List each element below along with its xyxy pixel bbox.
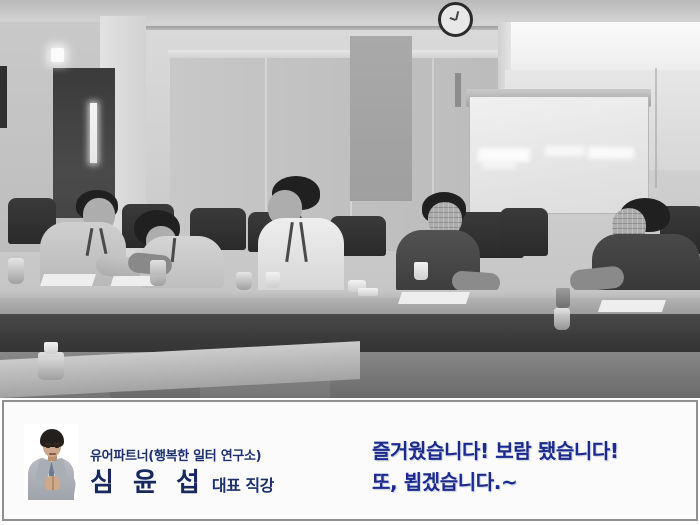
speaker-name-line: 심 윤 섭 대표 직강 <box>90 468 274 498</box>
speaker-text: 유어파트너(행복한 일터 연구소) 심 윤 섭 대표 직강 <box>90 449 274 500</box>
speaker-name: 심 윤 섭 <box>90 468 205 498</box>
whiteboard-glare <box>545 146 585 156</box>
cup-lid <box>44 342 58 354</box>
office-chair <box>500 208 548 256</box>
portrait-eye-right <box>55 446 59 448</box>
speaker-block: 유어파트너(행복한 일터 연구소) 심 윤 섭 대표 직강 <box>24 424 274 500</box>
portrait-eye-left <box>46 446 50 448</box>
message-line-1: 즐거웠습니다! 보람 됐습니다! <box>372 436 619 467</box>
slide-root: 유어파트너(행복한 일터 연구소) 심 윤 섭 대표 직강 즐거웠습니다! 보람… <box>0 0 700 525</box>
drink-cup <box>554 308 570 330</box>
right-wall-seam <box>655 68 657 188</box>
document <box>40 274 96 286</box>
portrait-eyebrow-left <box>45 443 51 445</box>
speaker-role: 대표 직강 <box>212 476 274 496</box>
drink-cup <box>556 288 570 308</box>
drink-cup-foreground <box>38 352 64 380</box>
left-door-frame <box>0 66 7 128</box>
document <box>598 300 666 312</box>
paneled-wall-top-trim <box>168 50 502 58</box>
drink-cup <box>236 272 252 290</box>
paper-cup <box>414 262 428 280</box>
drink-cup <box>150 260 166 286</box>
portrait-hair <box>40 429 64 447</box>
portrait-mouth <box>49 453 56 455</box>
wall-clock-icon <box>438 2 473 37</box>
ceiling-light-recess <box>505 22 700 77</box>
whiteboard-bracket <box>455 73 461 107</box>
speaker-organization: 유어파트너(행복한 일터 연구소) <box>90 449 274 465</box>
message-line-2: 또, 뵙겠습니다.~ <box>372 467 619 498</box>
drink-cup <box>8 258 24 284</box>
portrait-hand-split <box>52 476 54 490</box>
caption-panel: 유어파트너(행복한 일터 연구소) 심 윤 섭 대표 직강 즐거웠습니다! 보람… <box>2 400 698 521</box>
document <box>398 292 470 304</box>
conference-room-photo <box>0 0 700 398</box>
speaker-portrait <box>24 424 78 500</box>
portrait-eyebrow-right <box>54 443 60 445</box>
whiteboard-glare <box>482 162 516 169</box>
right-doorway <box>350 36 412 201</box>
whiteboard-glare <box>588 147 634 159</box>
paper-cup <box>266 272 280 288</box>
door-light-strip <box>90 103 97 163</box>
saucer <box>358 288 378 296</box>
wall-light-icon <box>51 48 64 62</box>
message-block: 즐거웠습니다! 보람 됐습니다! 또, 뵙겠습니다.~ <box>372 436 619 498</box>
whiteboard-glare <box>478 148 530 162</box>
